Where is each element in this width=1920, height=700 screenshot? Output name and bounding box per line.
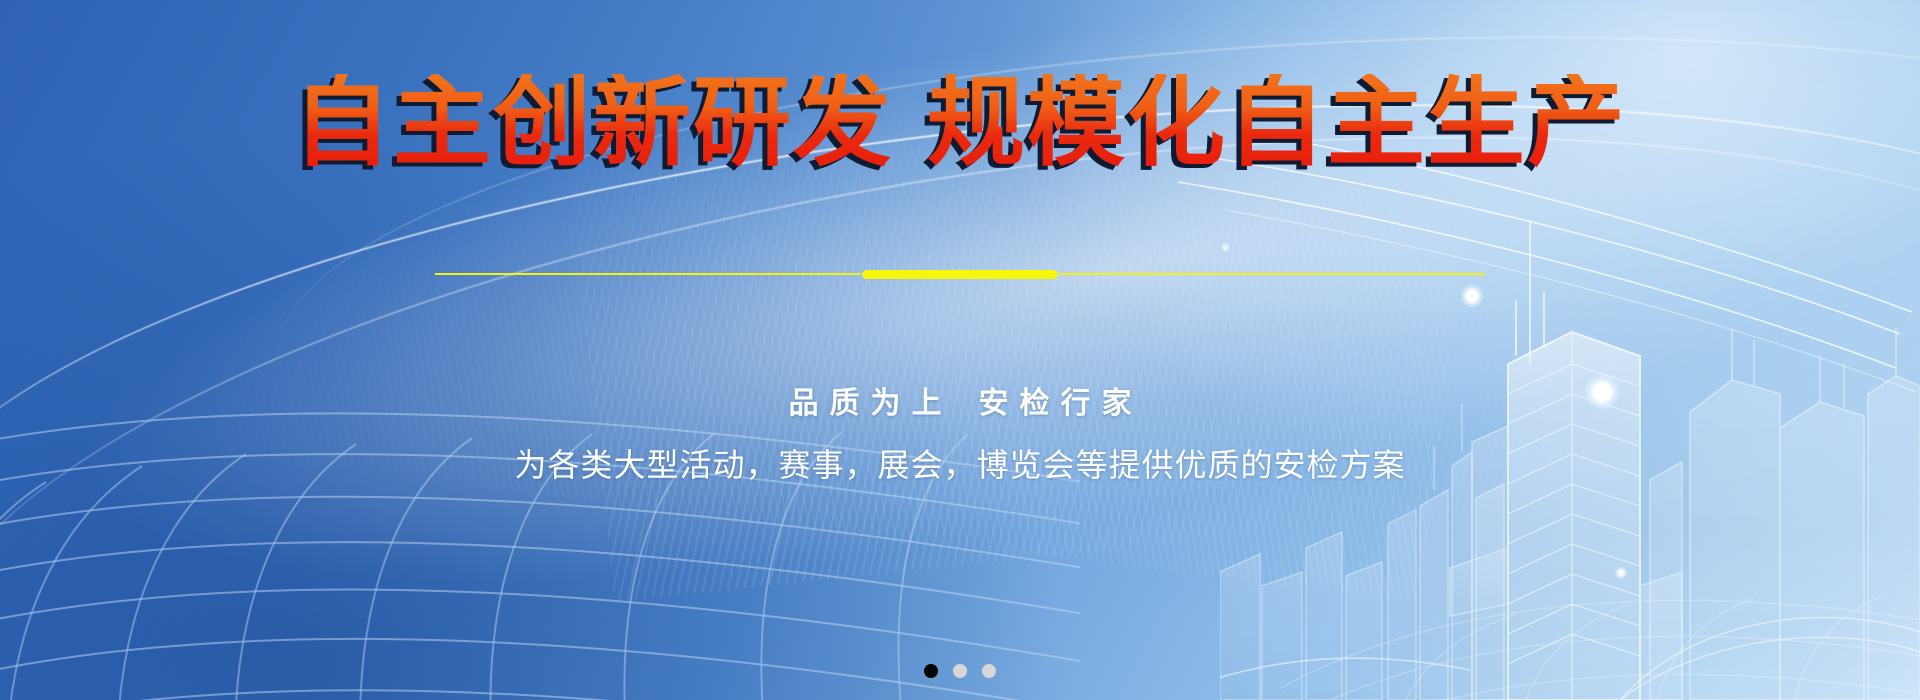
- banner-subtext: 为各类大型活动，赛事，展会，博览会等提供优质的安检方案: [0, 440, 1920, 486]
- carousel-dots[interactable]: [924, 664, 996, 678]
- headline-part-1: 自主创新研发: [293, 66, 893, 180]
- hero-banner: 自主创新研发规模化自主生产 品质为上安检行家 为各类大型活动，赛事，展会，博览会…: [0, 0, 1920, 700]
- carousel-dot-1[interactable]: [924, 664, 938, 678]
- carousel-dot-3[interactable]: [982, 664, 996, 678]
- yellow-divider: [435, 268, 1485, 280]
- banner-content: 自主创新研发规模化自主生产 品质为上安检行家 为各类大型活动，赛事，展会，博览会…: [0, 0, 1920, 700]
- divider-center-bar: [862, 270, 1058, 279]
- divider-left-line: [435, 273, 860, 275]
- tagline-right: 安检行家: [979, 387, 1143, 420]
- carousel-dot-2[interactable]: [953, 664, 967, 678]
- banner-headline: 自主创新研发规模化自主生产: [0, 74, 1920, 172]
- divider-right-line: [1060, 273, 1485, 275]
- tagline-left: 品质为上: [789, 387, 953, 420]
- banner-tagline: 品质为上安检行家: [0, 378, 1920, 422]
- headline-part-2: 规模化自主生产: [927, 66, 1627, 180]
